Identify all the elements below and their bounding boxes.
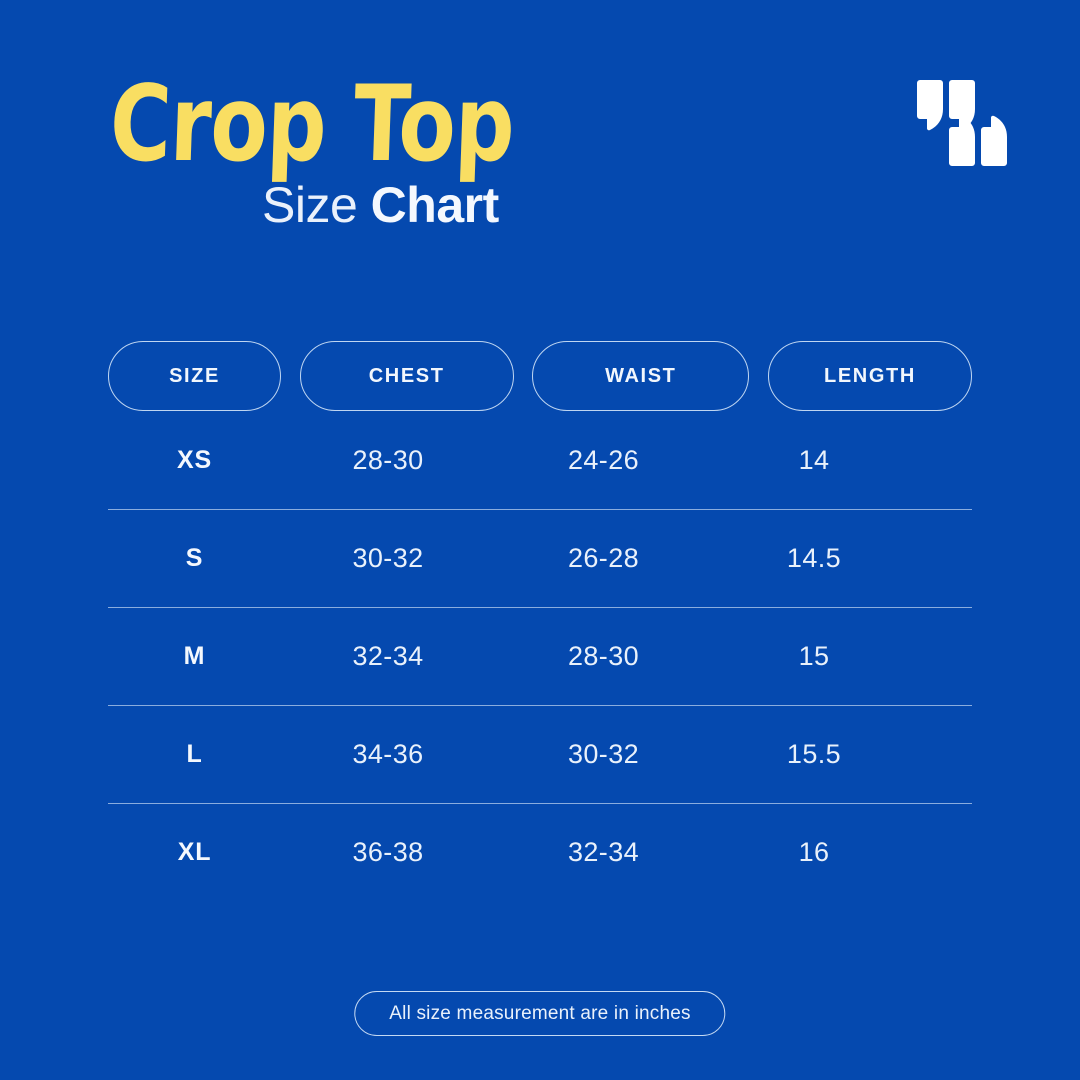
- size-table: SIZE CHEST WAIST LENGTH XS 28-30 24-26 1…: [108, 341, 972, 901]
- cell-length: 15.5: [712, 739, 916, 770]
- column-header-waist: WAIST: [532, 341, 749, 411]
- subtitle-light-part: Size: [262, 177, 371, 233]
- table-row: L 34-36 30-32 15.5: [108, 705, 972, 803]
- title-block: Crop Top Size Chart: [112, 72, 812, 242]
- cell-size: XL: [108, 838, 281, 867]
- cell-chest: 34-36: [281, 739, 495, 770]
- cell-chest: 28-30: [281, 445, 495, 476]
- column-header-chest: CHEST: [300, 341, 514, 411]
- subtitle-bold-part: Chart: [371, 177, 499, 233]
- cell-size: M: [108, 642, 281, 671]
- column-header-length: LENGTH: [768, 341, 972, 411]
- cell-waist: 28-30: [495, 641, 712, 672]
- cell-chest: 30-32: [281, 543, 495, 574]
- cell-waist: 30-32: [495, 739, 712, 770]
- page-subtitle: Size Chart: [262, 180, 499, 230]
- cell-waist: 24-26: [495, 445, 712, 476]
- quote-icon: [916, 78, 1008, 168]
- column-header-size: SIZE: [108, 341, 281, 411]
- cell-waist: 26-28: [495, 543, 712, 574]
- size-chart-poster: Crop Top Size Chart SIZE CHEST WAIST LEN…: [0, 0, 1080, 1080]
- cell-length: 14: [712, 445, 916, 476]
- table-row: S 30-32 26-28 14.5: [108, 509, 972, 607]
- table-row: XS 28-30 24-26 14: [108, 411, 972, 509]
- cell-size: XS: [108, 446, 281, 475]
- table-row: XL 36-38 32-34 16: [108, 803, 972, 901]
- table-header-row: SIZE CHEST WAIST LENGTH: [108, 341, 972, 411]
- page-title: Crop Top: [108, 72, 515, 177]
- cell-length: 15: [712, 641, 916, 672]
- cell-length: 14.5: [712, 543, 916, 574]
- quotation-marks-logo: [916, 78, 1008, 168]
- cell-size: L: [108, 740, 281, 769]
- table-row: M 32-34 28-30 15: [108, 607, 972, 705]
- cell-chest: 36-38: [281, 837, 495, 868]
- cell-length: 16: [712, 837, 916, 868]
- table-body: XS 28-30 24-26 14 S 30-32 26-28 14.5 M 3…: [108, 411, 972, 901]
- cell-waist: 32-34: [495, 837, 712, 868]
- cell-size: S: [108, 544, 281, 573]
- measurement-unit-note: All size measurement are in inches: [354, 991, 725, 1036]
- cell-chest: 32-34: [281, 641, 495, 672]
